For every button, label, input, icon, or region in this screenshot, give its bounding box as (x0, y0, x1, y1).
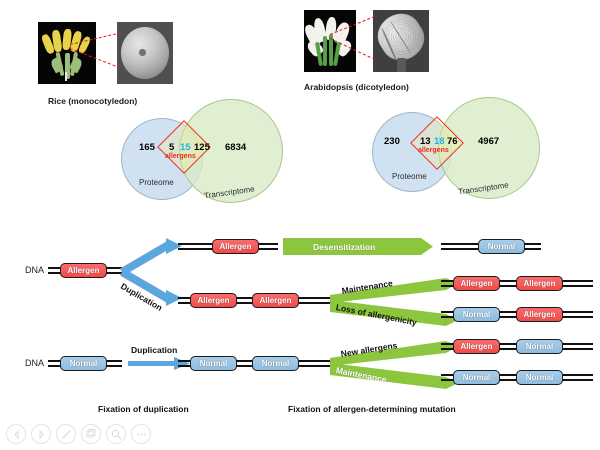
more-button[interactable] (131, 424, 151, 444)
arabidopsis-venn-proteome-label: Proteome (392, 172, 427, 181)
gene-box-normal-upper-result: Normal (478, 239, 525, 254)
duplication-label-normal: Duplication (131, 345, 177, 355)
rice-pollen-sem (117, 22, 173, 84)
arabidopsis-venn-proteome-only-count: 230 (384, 136, 400, 147)
edit-button[interactable] (56, 424, 76, 444)
zoom-button[interactable] (106, 424, 126, 444)
viewer-toolbar[interactable] (6, 424, 151, 444)
dna-label-allergen: DNA (25, 265, 44, 275)
arabidopsis-venn-allergens-label: allergens (418, 147, 449, 154)
rice-venn-overlap-center-count: 15 (180, 142, 191, 153)
caption-fixation-of-mutation: Fixation of allergen-determining mutatio… (288, 404, 456, 414)
copy-button[interactable] (81, 424, 101, 444)
arabidopsis-venn-overlap-left-count: 13 (420, 136, 431, 147)
gene-box-allergen-result-1b: Allergen (516, 276, 563, 291)
desensitization-label: Desensitization (313, 242, 375, 252)
gene-box-allergen-result-1a: Allergen (453, 276, 500, 291)
gene-box-allergen-start: Allergen (60, 263, 107, 278)
gene-box-allergen-mid-2: Allergen (252, 293, 299, 308)
arabidopsis-venn-transcriptome-only-count: 4967 (478, 136, 499, 147)
dna-label-normal: DNA (25, 358, 44, 368)
rice-venn-proteome-only-count: 165 (139, 142, 155, 153)
gene-box-normal-result-3b: Normal (516, 339, 563, 354)
gene-box-normal-result-2a: Normal (453, 307, 500, 322)
arabidopsis-flower-photo (304, 10, 356, 72)
rice-venn-overlap-right-count: 125 (194, 142, 210, 153)
gene-box-normal-result-4b: Normal (516, 370, 563, 385)
scientific-figure: Rice (monocotyledon) Arabidopsis (dicoty… (0, 0, 600, 450)
gene-box-allergen-mid-1: Allergen (190, 293, 237, 308)
gene-box-allergen-upper: Allergen (212, 239, 259, 254)
arabidopsis-pollen-sem (373, 10, 429, 72)
rice-venn-overlap-left-count: 5 (169, 142, 174, 153)
gene-box-allergen-result-3a: Allergen (453, 339, 500, 354)
arabidopsis-caption: Arabidopsis (dicotyledon) (304, 82, 409, 92)
rice-venn-transcriptome-only-count: 6834 (225, 142, 246, 153)
next-button[interactable] (31, 424, 51, 444)
rice-caption: Rice (monocotyledon) (48, 96, 137, 106)
gene-box-normal-dup-1: Normal (190, 356, 237, 371)
arabidopsis-venn-overlap-center-count: 18 (434, 136, 445, 147)
previous-button[interactable] (6, 424, 26, 444)
arabidopsis-venn-overlap-right-count: 76 (447, 136, 458, 147)
gene-box-normal-result-4a: Normal (453, 370, 500, 385)
gene-box-normal-start: Normal (60, 356, 107, 371)
gene-box-allergen-result-2b: Allergen (516, 307, 563, 322)
rice-flower-photo (38, 22, 96, 84)
rice-venn-proteome-label: Proteome (139, 178, 174, 187)
caption-fixation-of-duplication: Fixation of duplication (98, 404, 189, 414)
rice-venn-allergens-label: allergens (165, 153, 196, 160)
gene-box-normal-dup-2: Normal (252, 356, 299, 371)
